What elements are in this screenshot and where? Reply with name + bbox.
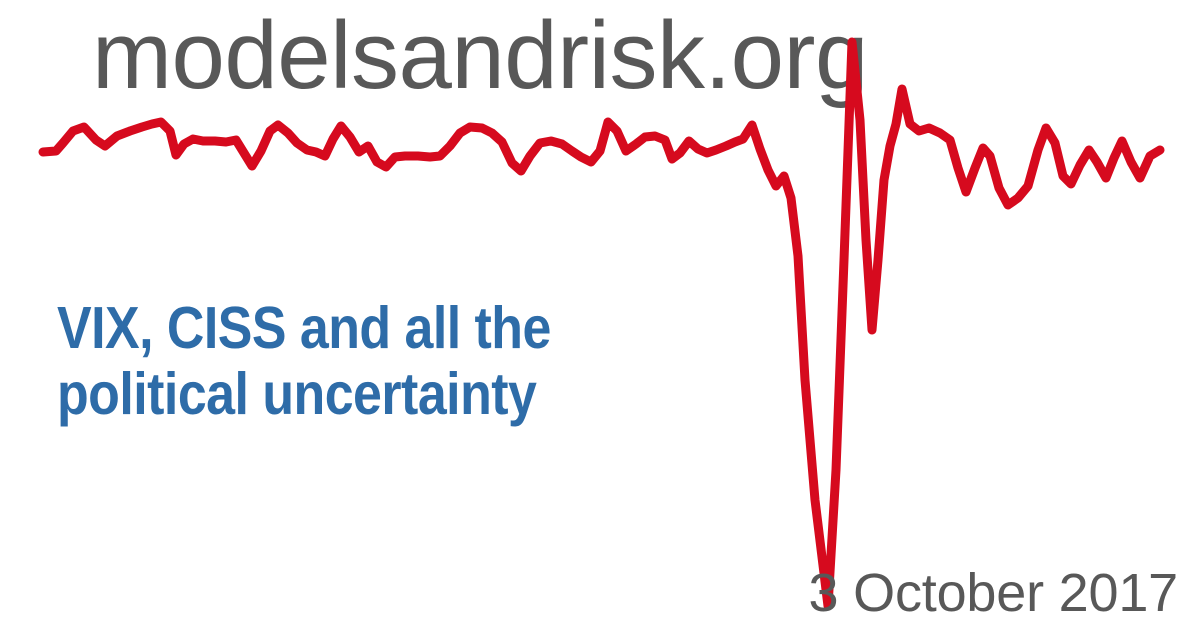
publish-date: 3 October 2017 [809,562,1178,624]
headline: VIX, CISS and all the political uncertai… [57,295,673,427]
headline-line-2: political uncertainty [57,361,673,427]
site-title: modelsandrisk.org [92,8,868,104]
headline-line-1: VIX, CISS and all the [57,295,673,361]
social-card: modelsandrisk.org VIX, CISS and all the … [0,0,1200,630]
